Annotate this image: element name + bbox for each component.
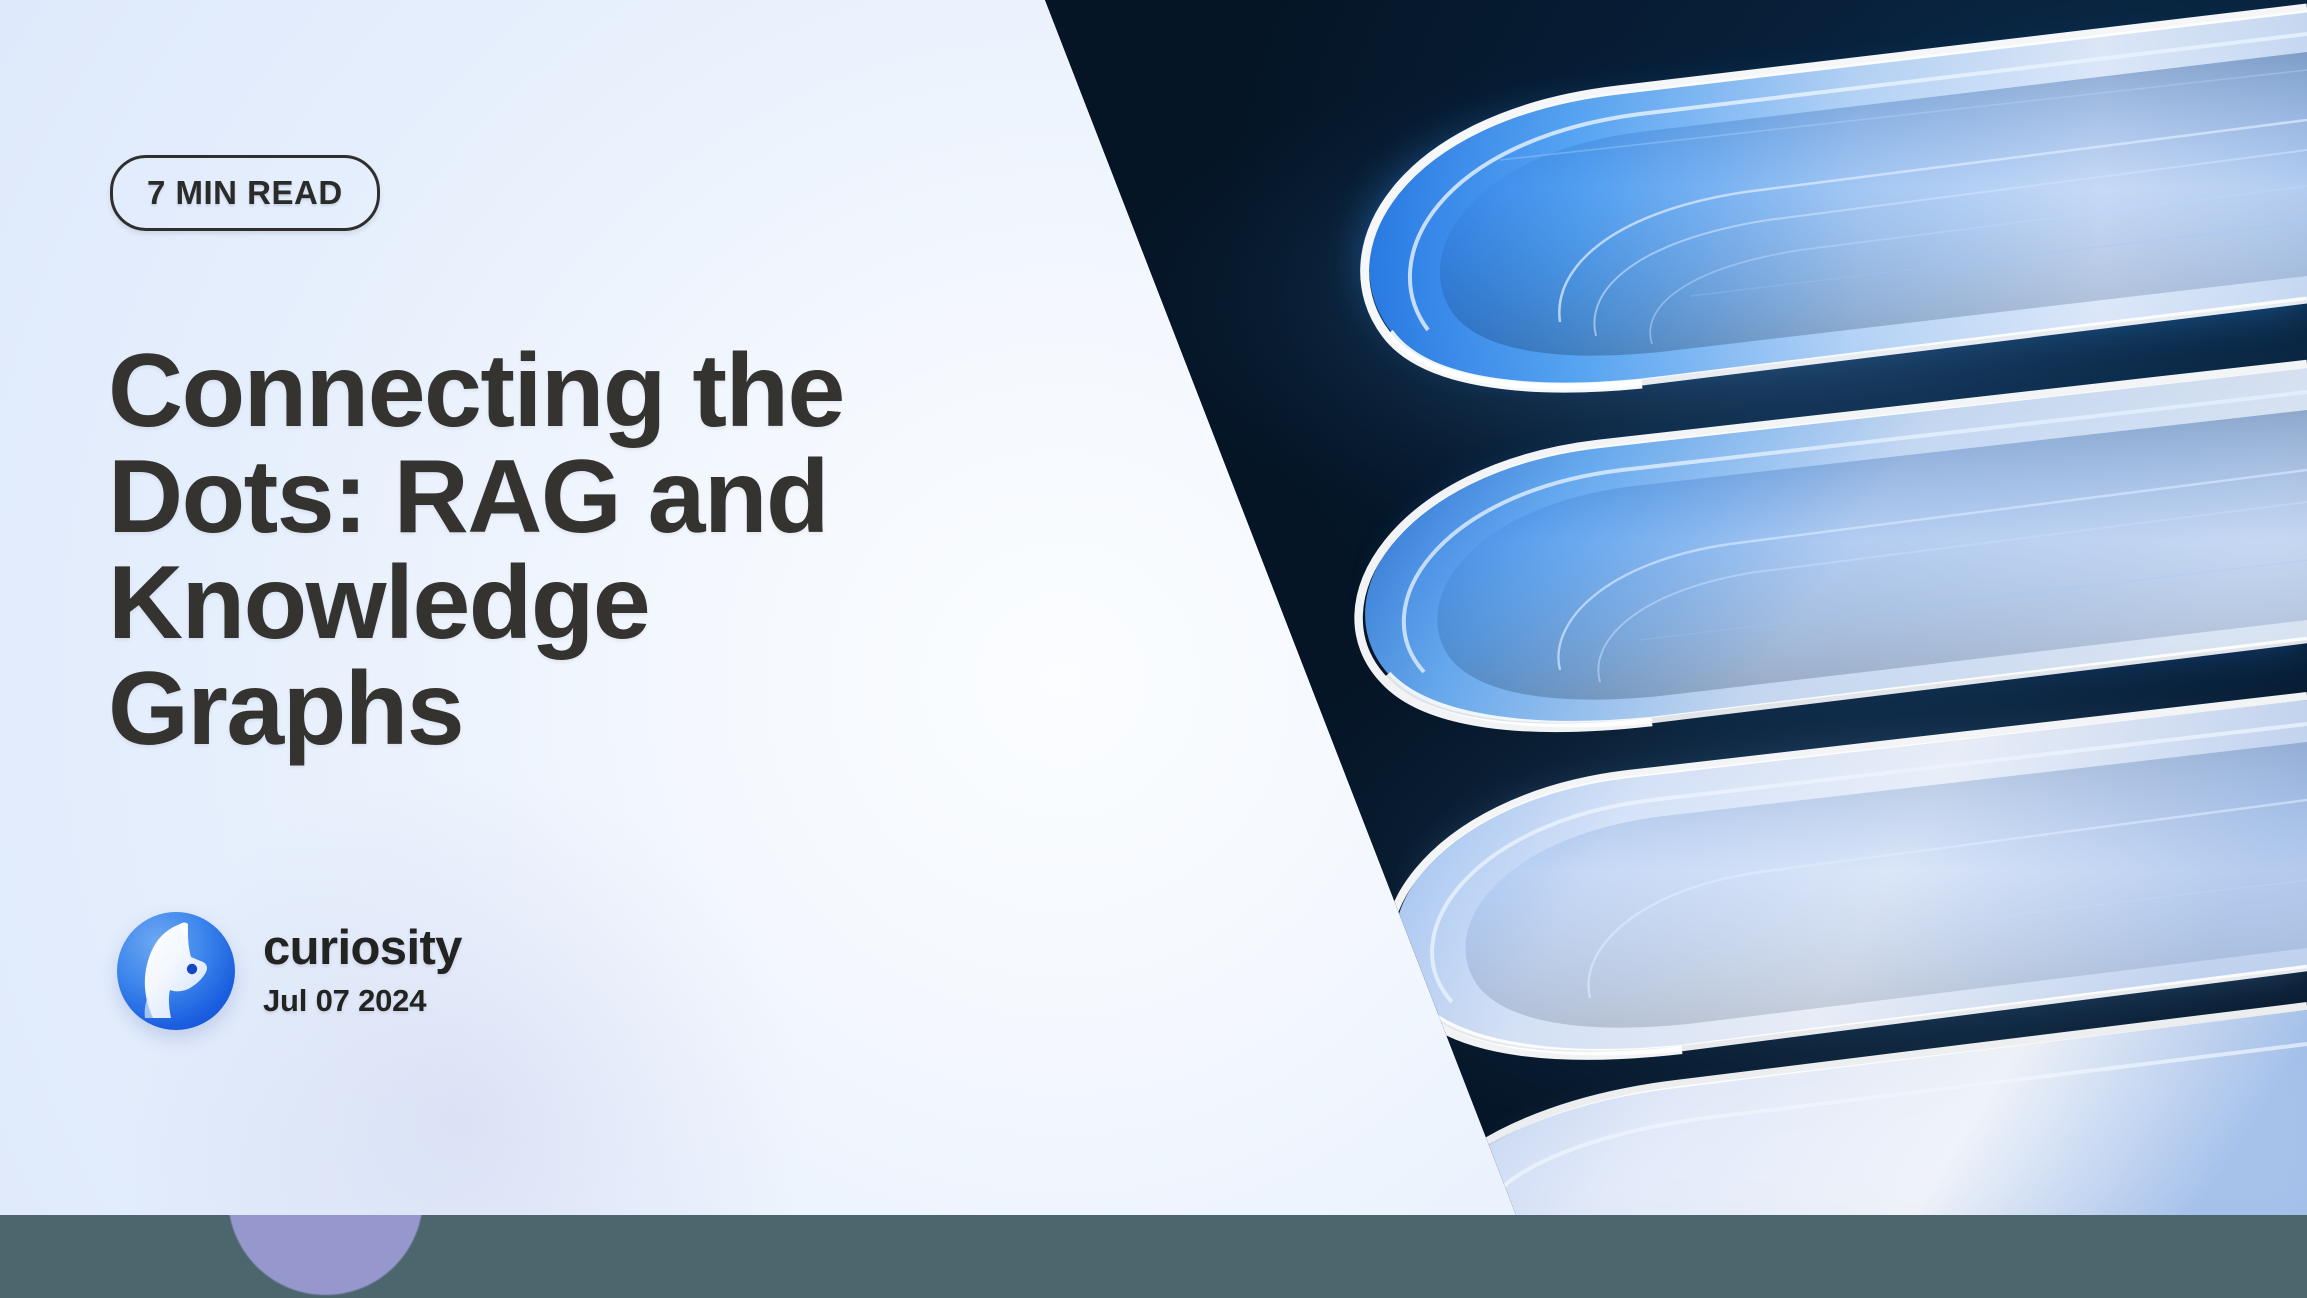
- title-line-3: Knowledge: [108, 550, 1068, 656]
- title-line-2: Dots: RAG and: [108, 444, 1068, 550]
- cat-head-profile-icon: [117, 912, 235, 1030]
- author-name: curiosity: [263, 923, 462, 974]
- title-line-1: Connecting the: [108, 338, 1068, 444]
- publish-date: Jul 07 2024: [263, 983, 462, 1019]
- read-time-badge: 7 MIN READ: [110, 155, 380, 231]
- page-title: Connecting the Dots: RAG and Knowledge G…: [108, 338, 1068, 762]
- article-hero-card: 7 MIN READ Connecting the Dots: RAG and …: [0, 0, 2307, 1298]
- title-line-4: Graphs: [108, 656, 1068, 762]
- read-time-label: 7 MIN READ: [147, 174, 343, 212]
- author-block[interactable]: curiosity Jul 07 2024: [117, 912, 462, 1030]
- avatar[interactable]: [117, 912, 235, 1030]
- author-text: curiosity Jul 07 2024: [263, 923, 462, 1018]
